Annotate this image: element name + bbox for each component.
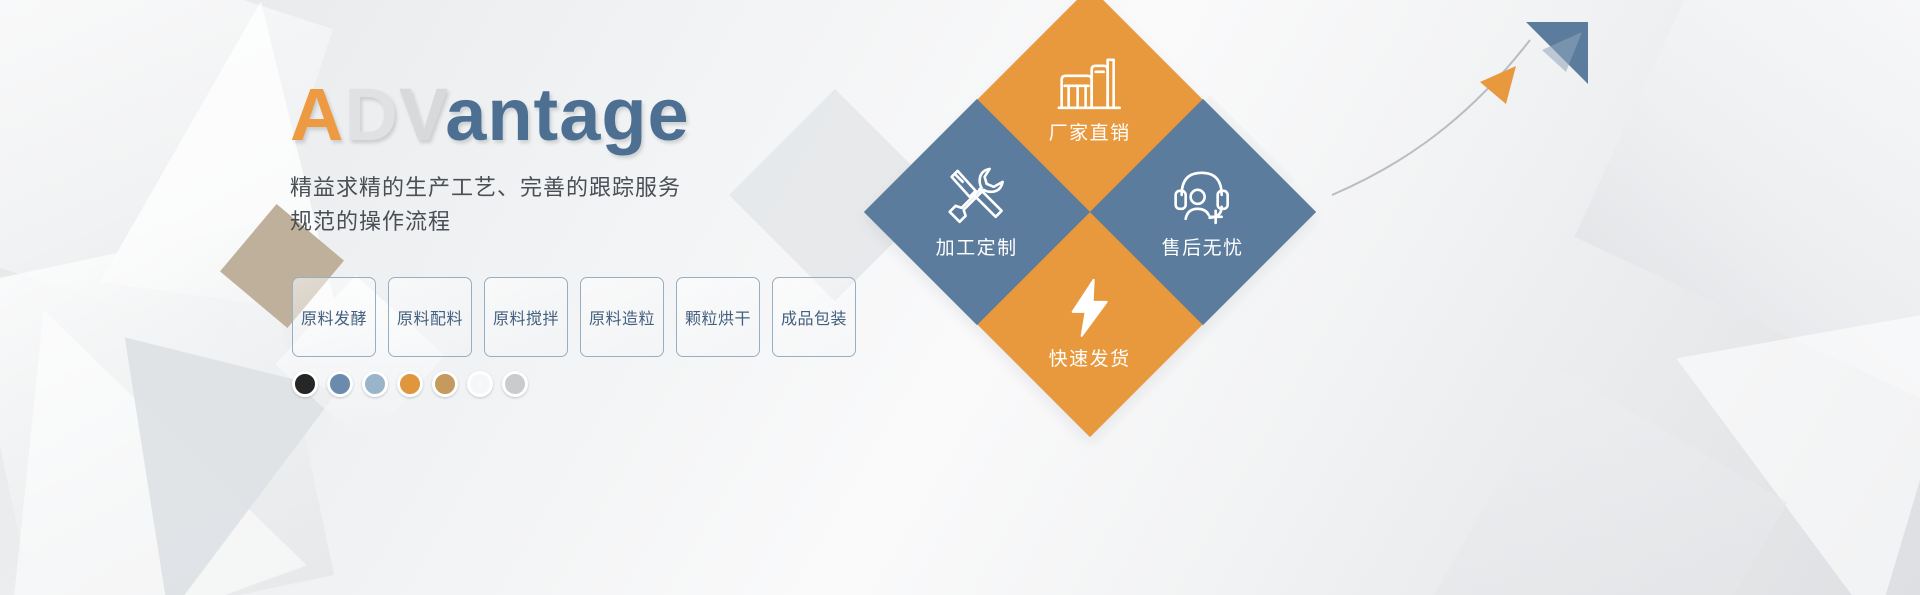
bg-triangle-left-upper [100,0,379,315]
process-step[interactable]: 原料发酵 [292,277,376,357]
bg-shape-left-lower [0,223,334,595]
headset-icon [1172,165,1234,227]
process-step[interactable]: 原料造粒 [580,277,664,357]
bg-triangle-left-lower [0,255,307,595]
bg-triangle-right-lower [1676,306,1920,595]
banner-subtitle: 精益求精的生产工艺、完善的跟踪服务 规范的操作流程 [290,171,681,239]
process-step[interactable]: 成品包装 [772,277,856,357]
process-step[interactable]: 原料配料 [388,277,472,357]
advantage-diamond-cluster: 厂家直销 售后无忧 [880,20,1300,420]
page-title: ADVantage [290,78,690,152]
process-step[interactable]: 颗粒烘干 [676,277,760,357]
process-step[interactable]: 原料搅拌 [484,277,568,357]
subtitle-line-1: 精益求精的生产工艺、完善的跟踪服务 [290,171,681,205]
subtitle-line-2: 规范的操作流程 [290,205,681,239]
advantage-label: 售后无忧 [1162,233,1244,260]
headline-suffix: antage [445,73,690,156]
color-swatch[interactable] [362,371,388,397]
color-swatch[interactable] [502,371,528,397]
bg-shape-right-bottom [1432,372,1787,595]
color-swatch[interactable] [432,371,458,397]
headline-letter-a: A [290,73,344,156]
factory-icon [1058,56,1122,112]
advantage-label: 快速发货 [1049,344,1131,371]
advantage-label: 厂家直销 [1049,118,1131,145]
advantage-banner: ADVantage 精益求精的生产工艺、完善的跟踪服务 规范的操作流程 原料发酵… [0,0,1920,595]
color-swatch-list [292,371,528,397]
process-step-list: 原料发酵 原料配料 原料搅拌 原料造粒 颗粒烘干 成品包装 [292,277,856,357]
color-swatch[interactable] [327,371,353,397]
bg-shape-top-left [0,0,333,343]
color-swatch[interactable] [397,371,423,397]
tools-icon [946,165,1008,227]
color-swatch[interactable] [292,371,318,397]
color-swatch[interactable] [467,371,493,397]
arrow-swoosh-decoration [1330,20,1590,200]
bg-shape-right-upper [1574,0,1920,406]
lightning-icon [1067,278,1113,338]
headline-letter-d: D [344,73,398,156]
headline-letter-v: V [399,73,445,156]
advantage-label: 加工定制 [936,233,1018,260]
